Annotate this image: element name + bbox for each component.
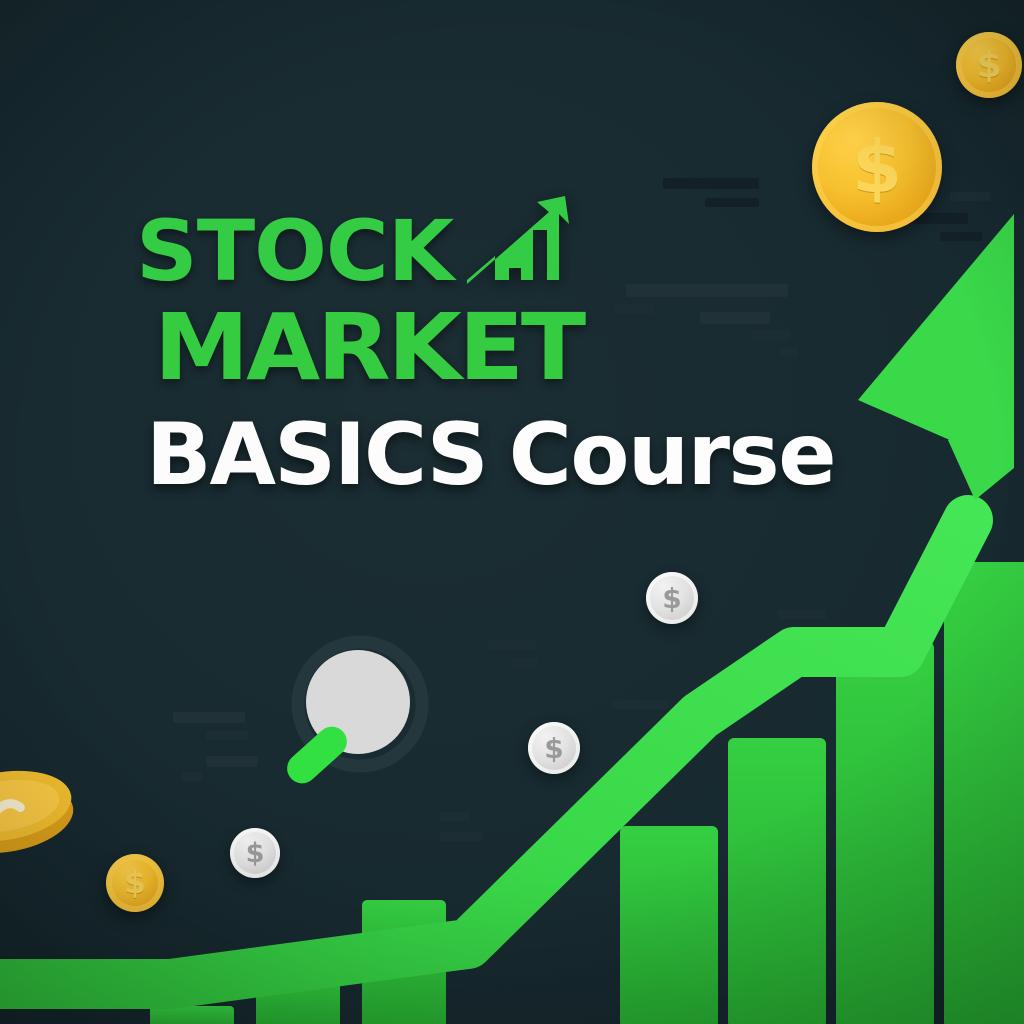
title-market: MARKET	[154, 302, 926, 394]
silver-coin: $	[528, 722, 580, 774]
coin-dollar-symbol: $	[124, 865, 146, 901]
title-stock: STOCK	[136, 210, 453, 292]
coin-dollar-symbol: $	[976, 45, 1001, 86]
gold-coin: $	[956, 32, 1022, 98]
magnifying-glass-icon	[262, 632, 442, 812]
title-basics: BASICS	[146, 412, 487, 498]
silver-coin: $	[230, 828, 280, 878]
silver-coin: $	[646, 572, 698, 624]
growth-arrow-icon	[461, 194, 573, 290]
coin-dollar-symbol: $	[544, 732, 563, 765]
coin-dollar-symbol: $	[662, 582, 681, 615]
course-thumbnail-poster: STOCK MARKET BASICS Course $ $ $	[0, 0, 1024, 1024]
headline-block: STOCK MARKET BASICS Course	[136, 196, 896, 498]
headline-line-basics: BASICS Course	[146, 412, 896, 498]
title-course: Course	[509, 412, 835, 498]
gold-coin: $	[106, 854, 164, 912]
coin-dollar-symbol: $	[246, 838, 265, 869]
headline-line-stock: STOCK	[136, 196, 896, 292]
